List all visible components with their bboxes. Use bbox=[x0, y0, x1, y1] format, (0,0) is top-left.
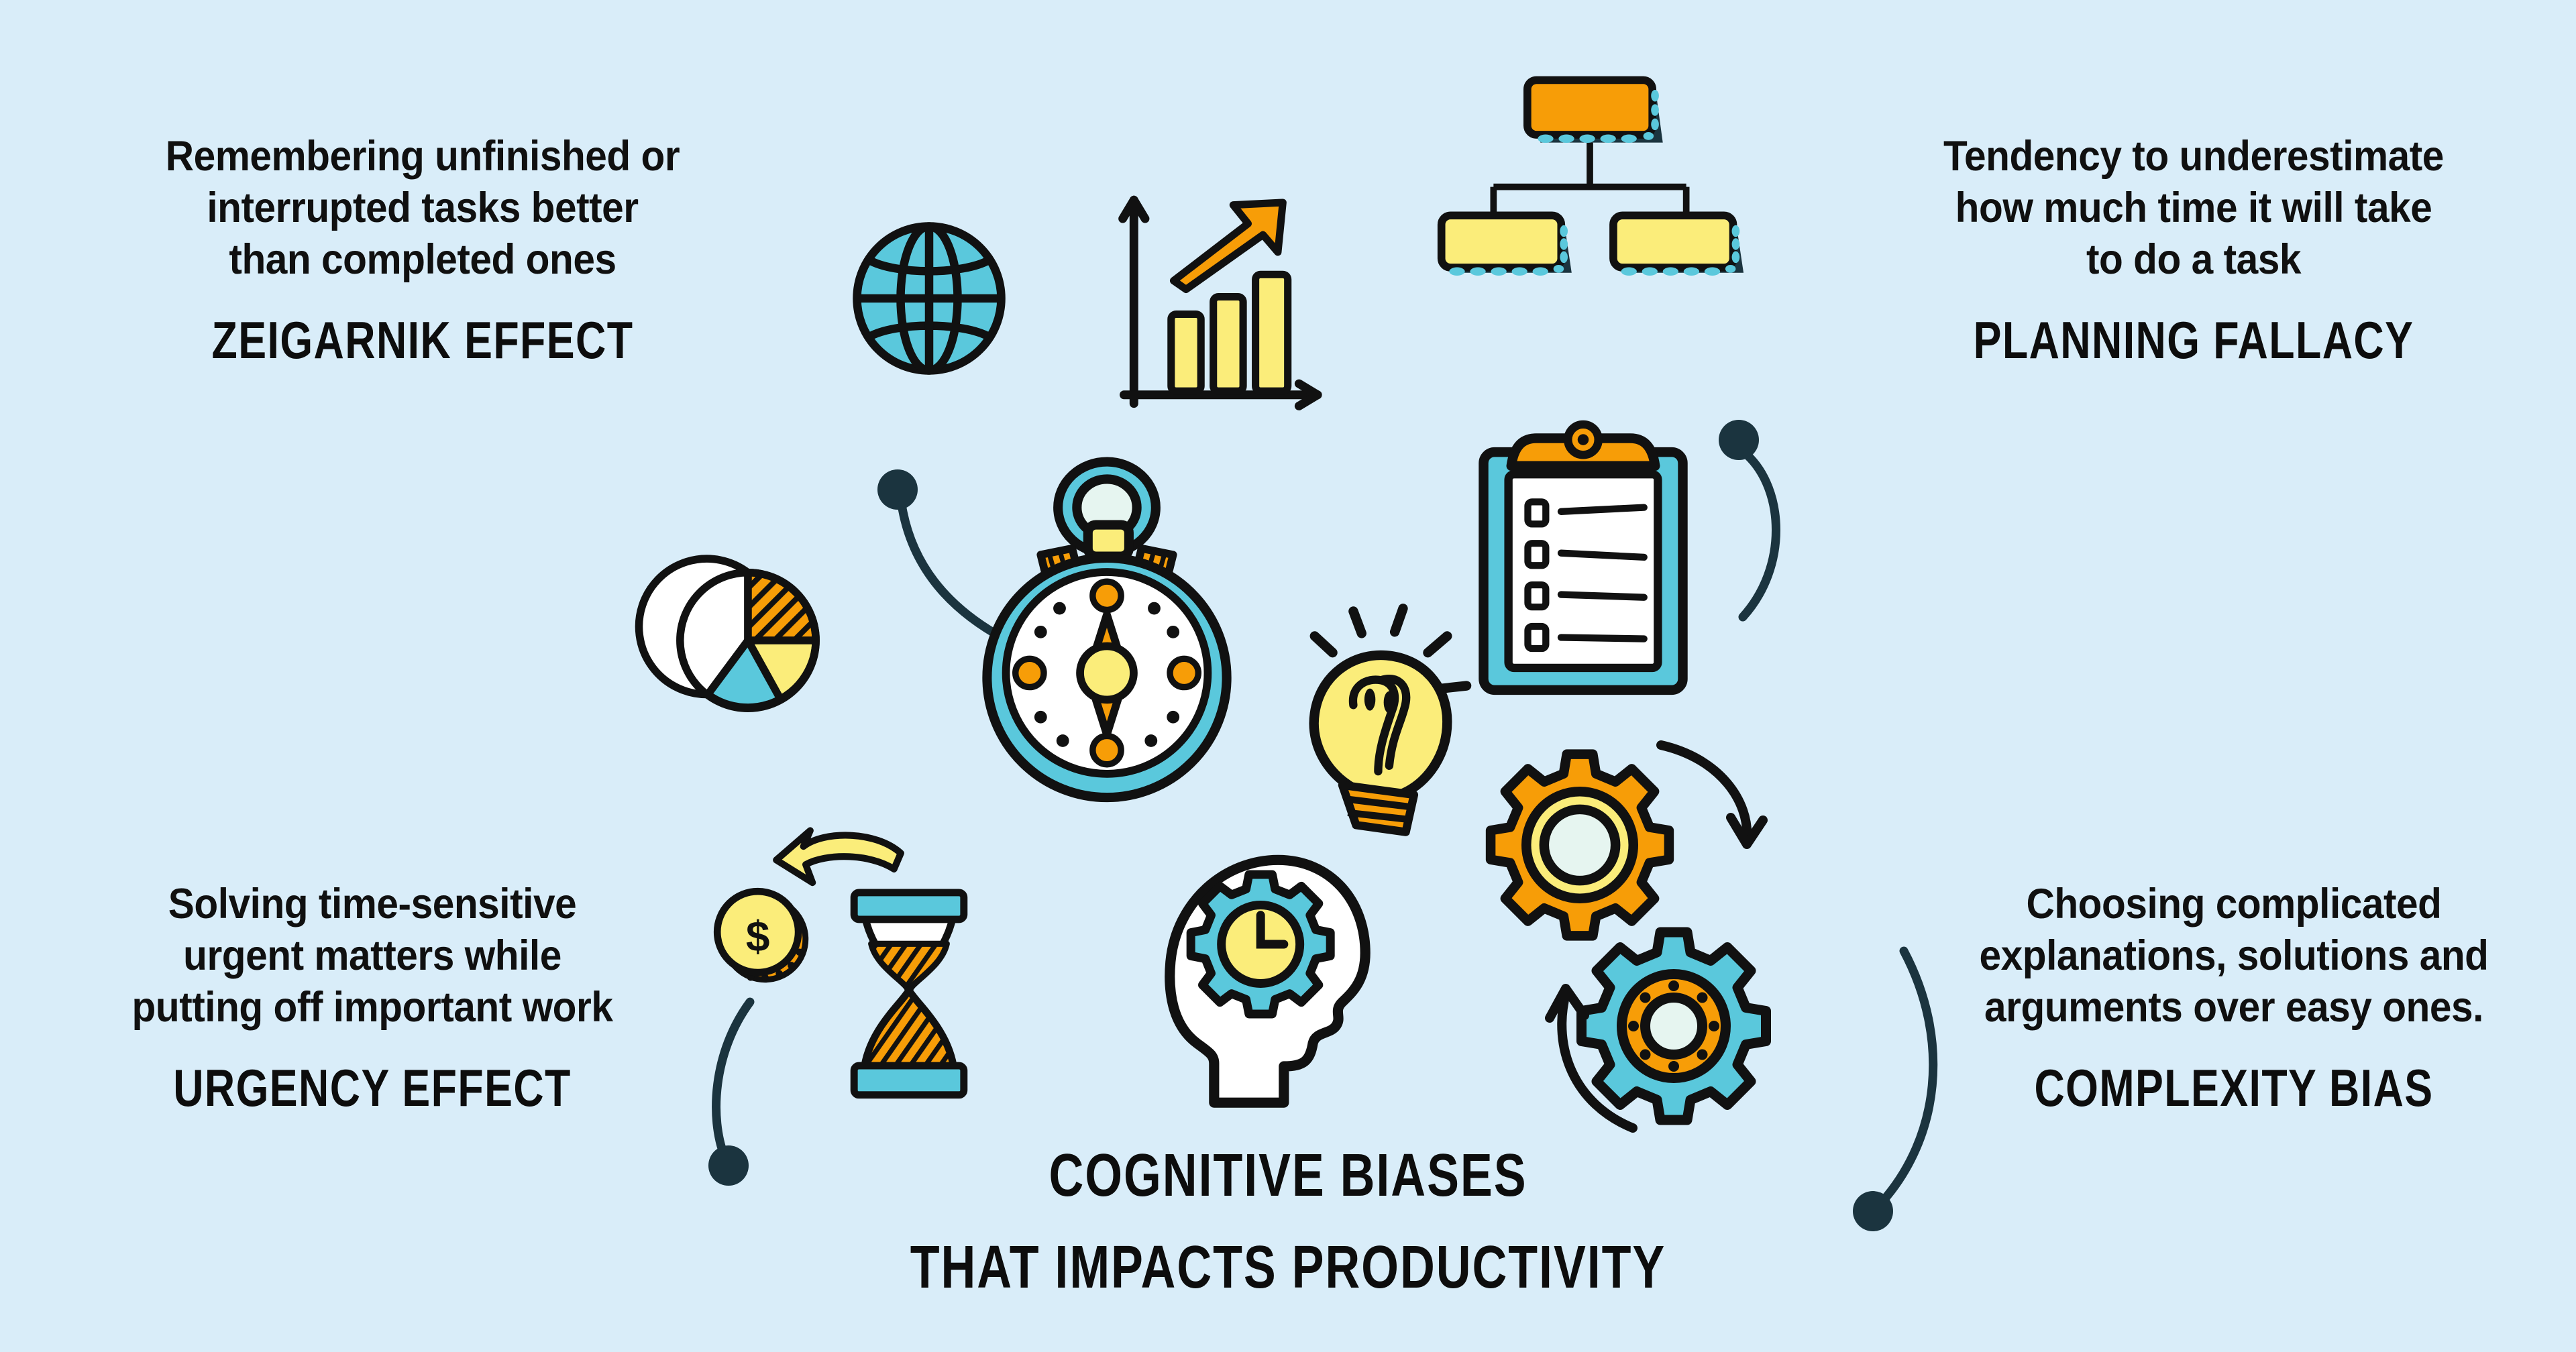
title-line-2: THAT IMPACTS PRODUCTIVITY bbox=[39, 1232, 2538, 1302]
bias-description-complexity: Choosing complicated explanations, solut… bbox=[1922, 879, 2546, 1033]
pie-chart-icon bbox=[671, 563, 825, 718]
title-line-1: COGNITIVE BIASES bbox=[39, 1140, 2538, 1210]
bias-block-complexity: Choosing complicated explanations, solut… bbox=[1898, 879, 2569, 1109]
globe-icon bbox=[845, 215, 1013, 382]
connector-top-right bbox=[1690, 416, 1865, 630]
bias-name-zeigarnik: ZEIGARNIK EFFECT bbox=[85, 310, 761, 370]
org-chart-icon bbox=[1429, 67, 1751, 288]
rotation-arrow-right-icon bbox=[1637, 734, 1771, 882]
stopwatch-icon bbox=[949, 456, 1265, 805]
bias-block-urgency: Solving time-sensitive urgent matters wh… bbox=[34, 879, 711, 1109]
rotation-arrow-up-icon bbox=[1536, 959, 1664, 1133]
bias-name-urgency: URGENCY EFFECT bbox=[50, 1058, 694, 1118]
clipboard-checklist-icon bbox=[1472, 419, 1694, 701]
infographic-canvas: $ bbox=[0, 0, 2576, 1352]
bias-description-zeigarnik: Remembering unfinished or interrupted ta… bbox=[92, 131, 753, 286]
head-gear-clock-icon bbox=[1157, 848, 1379, 1110]
bar-chart-growth-icon bbox=[1087, 174, 1335, 429]
bias-name-complexity: COMPLEXITY BIAS bbox=[1915, 1058, 2553, 1118]
page-title: COGNITIVE BIASES THAT IMPACTS PRODUCTIVI… bbox=[0, 1140, 2576, 1289]
bias-description-urgency: Solving time-sensitive urgent matters wh… bbox=[57, 879, 687, 1033]
bias-block-planning-fallacy: Tendency to underestimate how much time … bbox=[1838, 131, 2549, 361]
coin-dollar-symbol: $ bbox=[746, 912, 770, 960]
lightbulb-icon bbox=[1295, 600, 1489, 842]
hourglass-icon bbox=[842, 882, 976, 1103]
bias-block-zeigarnik: Remembering unfinished or interrupted ta… bbox=[67, 131, 778, 361]
bias-name-planning-fallacy: PLANNING FALLACY bbox=[1856, 310, 2532, 370]
bias-description-planning-fallacy: Tendency to underestimate how much time … bbox=[1863, 131, 2524, 286]
